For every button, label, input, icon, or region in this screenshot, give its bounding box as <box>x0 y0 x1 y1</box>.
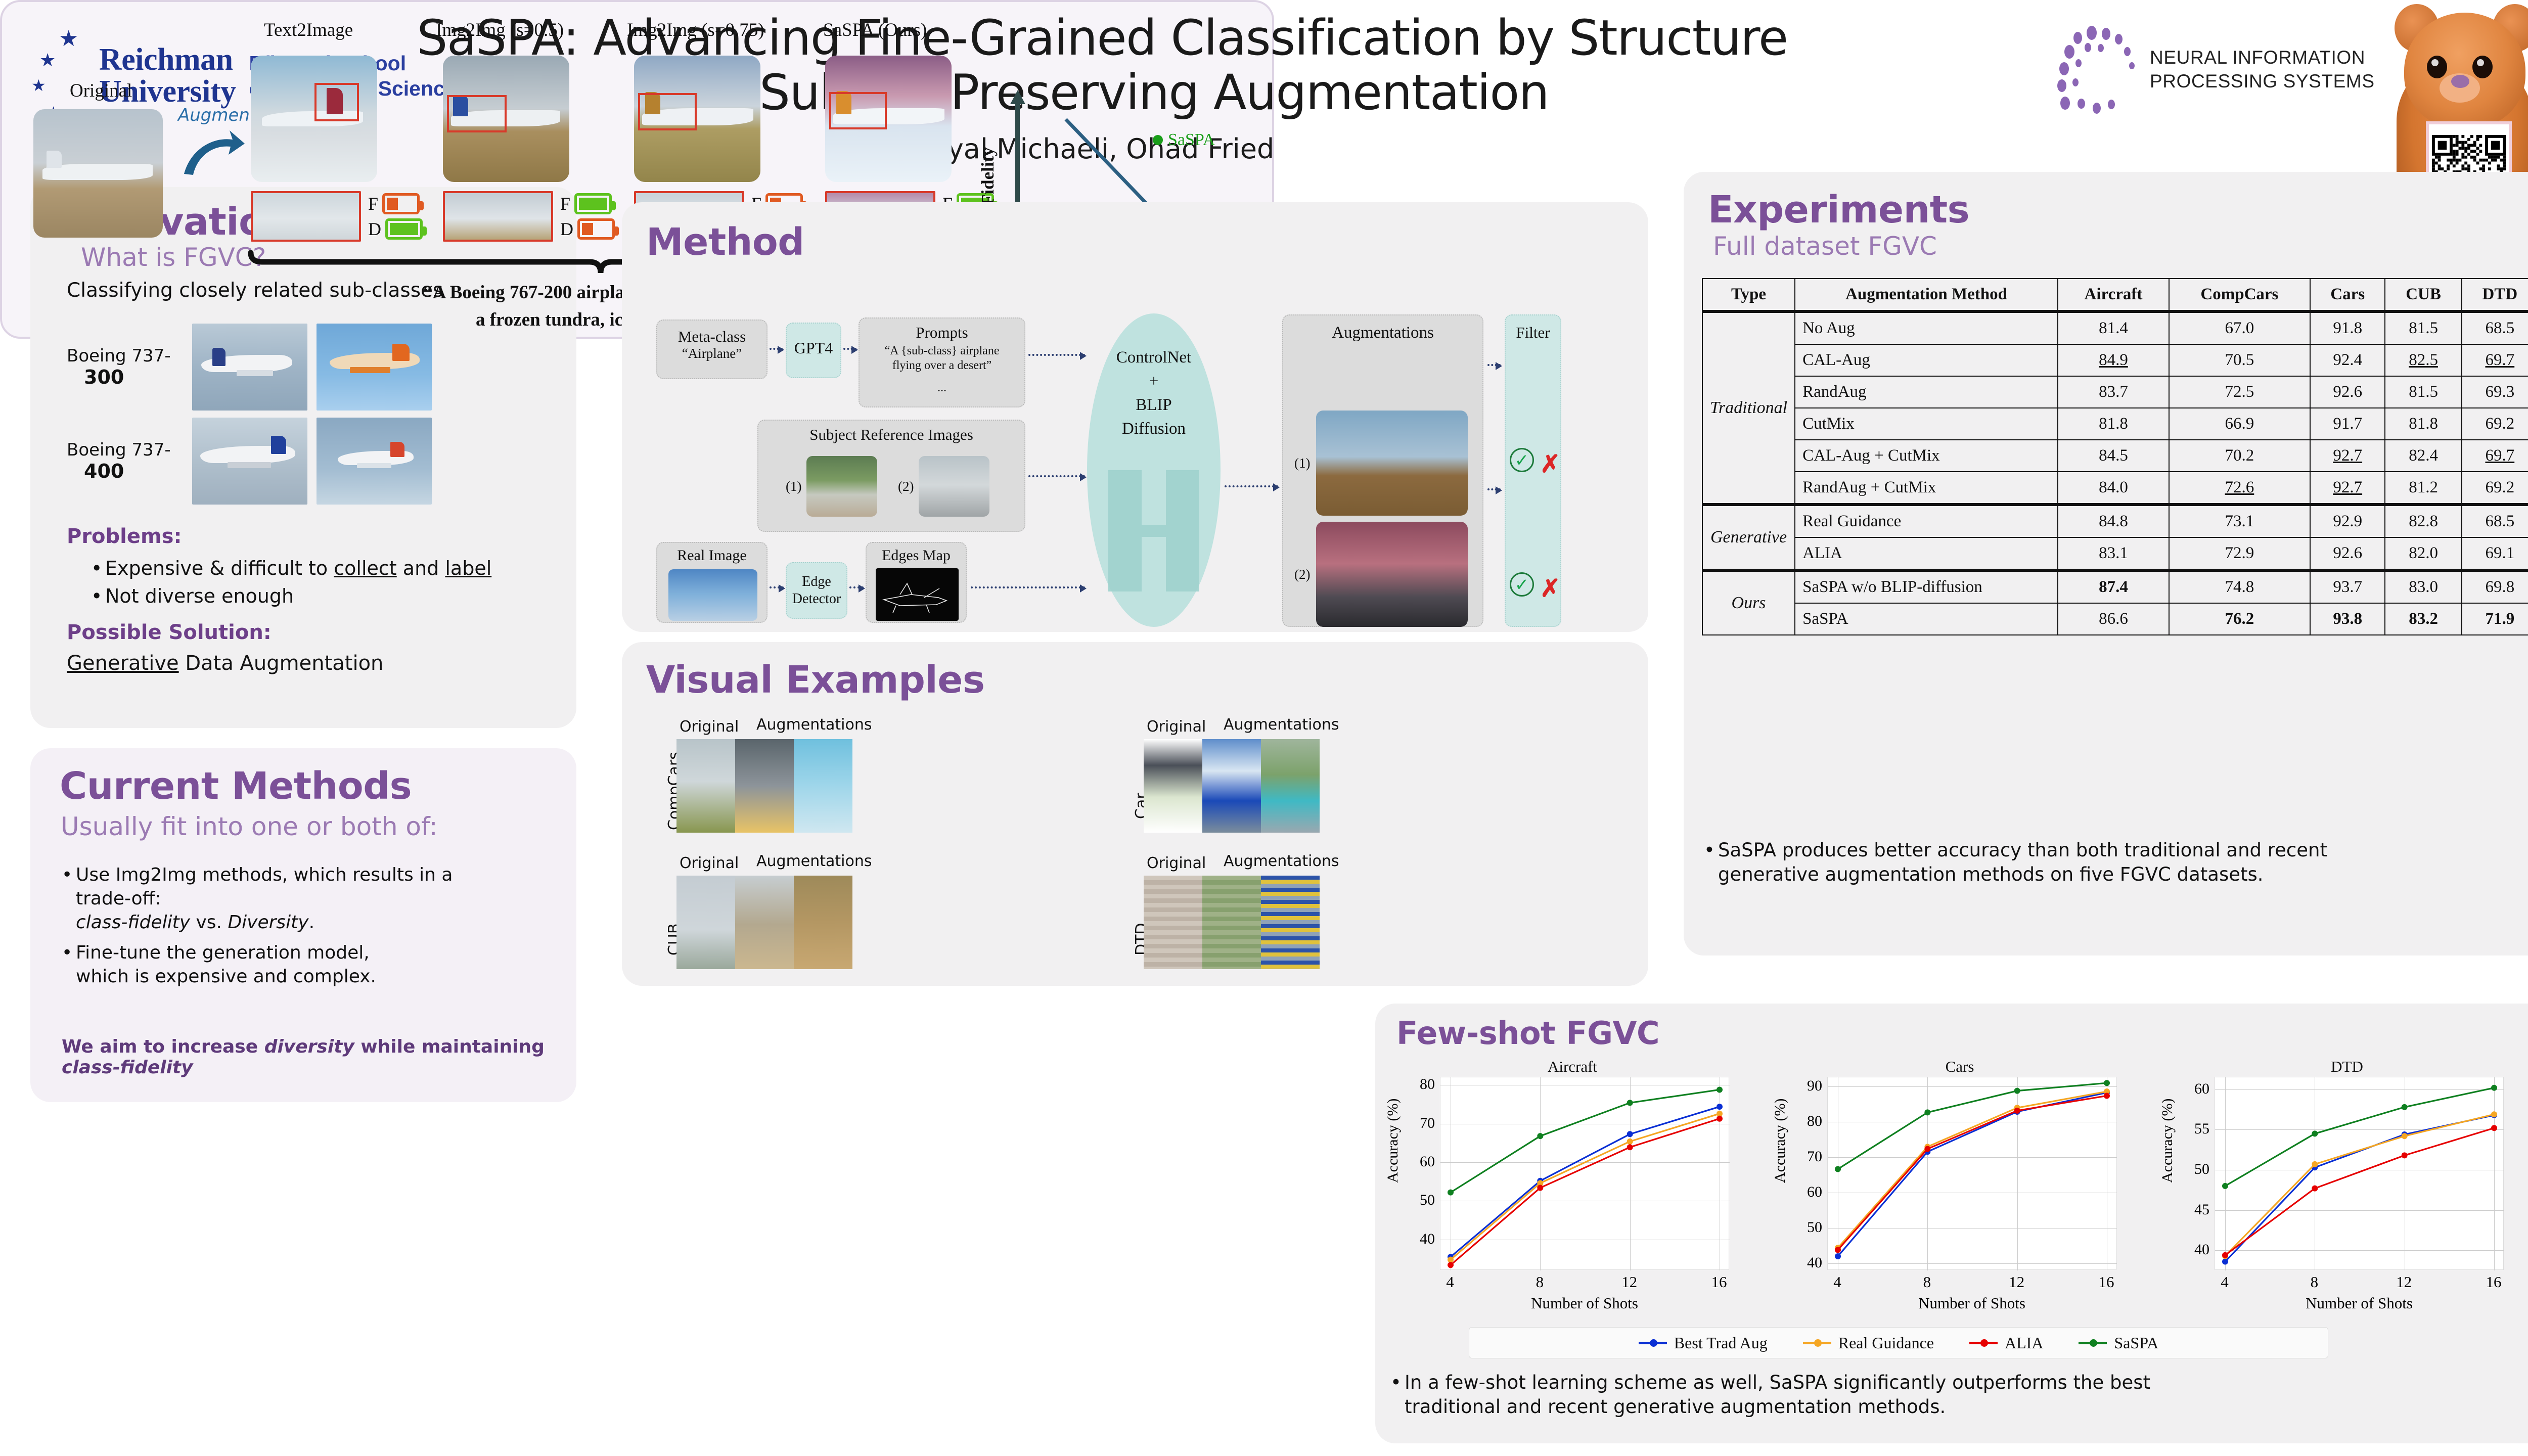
chart-marker <box>2402 1104 2408 1110</box>
chart-line-saspa <box>1838 1083 2107 1169</box>
subject-reference-title: Subject Reference Images <box>758 426 1024 444</box>
saspa-legend-label: SaSPA <box>1168 130 1215 150</box>
table-cell-value: 66.9 <box>2169 408 2310 440</box>
y-axis-label: Fidelity <box>978 147 998 205</box>
table-cell-value: 68.5 <box>2462 505 2528 537</box>
table-cell-value: 71.9 <box>2462 603 2528 635</box>
aircraft-photo <box>317 418 432 505</box>
augmentations-title: Augmentations <box>1283 324 1482 342</box>
legend-label: Best Trad Aug <box>1674 1334 1768 1352</box>
table-cell-value: 69.7 <box>2462 440 2528 472</box>
table-cell-method: RandAug <box>1795 376 2058 408</box>
prompt-ellipsis: ... <box>860 381 1024 395</box>
table-cell-method: CAL-Aug <box>1795 344 2058 376</box>
augmented-image-img2img075 <box>634 56 760 182</box>
table-cell-value: 92.4 <box>2310 344 2385 376</box>
chart-marker <box>2014 1088 2020 1094</box>
fewshot-bullet: • In a few-shot learning scheme as well,… <box>1390 1371 2528 1419</box>
table-cell-value: 82.8 <box>2385 505 2461 537</box>
chart-series-layer <box>1828 1077 2117 1270</box>
chart-marker <box>1835 1253 1841 1259</box>
chart-marker <box>1448 1262 1454 1268</box>
chart-line-real-guidance <box>1451 1114 1720 1260</box>
table-cell-value: 81.2 <box>2385 472 2461 505</box>
model-line3: BLIP <box>1087 393 1221 417</box>
neurips-line-1: NEURAL INFORMATION <box>2150 46 2375 70</box>
experiments-panel: Experiments Full dataset FGVC TypeAugmen… <box>1684 172 2528 955</box>
chart-marker <box>1835 1166 1841 1172</box>
line-chart-dtd: DTDAccuracy (%)Number of Shots4045505560… <box>2155 1057 2528 1319</box>
experiments-bullet: • SaSPA produces better accuracy than bo… <box>1704 838 2528 887</box>
filter-box: Filter ✓ ✗ ✓ ✗ <box>1505 314 1561 627</box>
chart-marker <box>1448 1257 1454 1263</box>
fgvc-row: Boeing 737- 300 <box>67 324 532 411</box>
chart-y-tick: 70 <box>1380 1115 1435 1132</box>
chart-y-tick: 55 <box>2155 1120 2209 1137</box>
augmentations-box: Augmentations (1) (2) <box>1282 314 1483 627</box>
problems-heading: Problems: <box>67 525 491 548</box>
chart-y-tick: 40 <box>1380 1231 1435 1248</box>
poster-header: ★ ★ ★ ★ ★ ★ ReichmanUniversity Efi Arazi… <box>0 0 2528 172</box>
problem-text: Expensive & difficult to collect and lab… <box>105 556 491 581</box>
chart-x-axis-label: Number of Shots <box>1440 1294 1729 1312</box>
chart-x-tick: 12 <box>1621 1273 1637 1291</box>
chart-marker <box>1537 1133 1543 1139</box>
solution-text: Generative Data Augmentation <box>67 650 383 677</box>
legend-line-icon <box>1969 1342 1998 1344</box>
table-col-header: CompCars <box>2169 279 2310 311</box>
chart-y-tick: 80 <box>1380 1076 1435 1093</box>
diversity-key: D <box>560 218 573 240</box>
table-cell-method: SaSPA <box>1795 603 2058 635</box>
table-cell-value: 92.7 <box>2310 440 2385 472</box>
chart-y-tick: 50 <box>2155 1161 2209 1178</box>
solution-block: Possible Solution: Generative Data Augme… <box>67 621 383 677</box>
table-col-header: DTD <box>2462 279 2528 311</box>
model-line4: Diffusion <box>1087 417 1221 441</box>
label-original: Original <box>680 854 739 872</box>
edge-detector-box: Edge Detector <box>786 562 847 619</box>
diversity-key: D <box>368 218 381 240</box>
current-method-item: • Fine-tune the generation model, which … <box>62 941 552 989</box>
neurips-label: NEURAL INFORMATION PROCESSING SYSTEMS <box>2150 46 2375 93</box>
rating-text2image: F D <box>368 193 423 240</box>
table-cell-value: 68.5 <box>2462 311 2528 344</box>
chart-marker <box>2402 1152 2408 1158</box>
bullet-dot-icon: • <box>1704 838 1711 887</box>
chart-title: Cars <box>1768 1058 2152 1076</box>
table-cell-value: 81.8 <box>2385 408 2461 440</box>
chart-x-tick: 16 <box>2486 1273 2502 1291</box>
subject-ref-index-2: (2) <box>898 479 914 494</box>
neurips-swirl-icon <box>2055 23 2139 116</box>
table-col-header: Aircraft <box>2058 279 2169 311</box>
label-original: Original <box>1147 854 1206 872</box>
edges-map-title: Edges Map <box>867 547 966 564</box>
visual-examples-heading: Visual Examples <box>646 661 985 699</box>
table-cell-value: 87.4 <box>2058 570 2169 603</box>
table-cell-value: 93.8 <box>2310 603 2385 635</box>
fidelity-key: F <box>368 193 378 214</box>
chart-y-tick: 45 <box>2155 1201 2209 1218</box>
meta-class-title: Meta-class <box>657 328 766 346</box>
gpt4-box: GPT4 <box>786 323 841 378</box>
chart-y-tick: 60 <box>2155 1080 2209 1098</box>
filter-title: Filter <box>1506 324 1560 342</box>
chart-marker <box>1717 1086 1723 1093</box>
fs-bullet-line2: traditional and recent generative augmen… <box>1405 1396 1946 1418</box>
current-methods-subheading: Usually fit into one or both of: <box>61 813 438 841</box>
table-cell-value: 72.6 <box>2169 472 2310 505</box>
chart-x-tick: 12 <box>2009 1273 2024 1291</box>
tradeoff-col-original: Original <box>70 80 132 102</box>
fewshot-charts: AircraftAccuracy (%)Number of Shots40506… <box>1380 1057 2528 1319</box>
edge-detector-line2: Detector <box>787 590 846 608</box>
subject-reference-box: Subject Reference Images (1) (2) <box>757 420 1025 532</box>
method-heading: Method <box>646 223 804 261</box>
tradeoff-col-saspa: SaSPA (Ours) <box>823 19 927 41</box>
table-cell-value: 92.6 <box>2310 537 2385 570</box>
bullet-dot-icon: • <box>62 941 69 989</box>
table-cell-method: ALIA <box>1795 537 2058 570</box>
table-cell-value: 69.1 <box>2462 537 2528 570</box>
aug-index-2: (2) <box>1294 567 1310 582</box>
table-cell-value: 83.1 <box>2058 537 2169 570</box>
chart-marker <box>2491 1111 2497 1117</box>
chart-y-tick: 90 <box>1768 1077 1822 1095</box>
augment-label: Augment <box>178 105 256 125</box>
results-table: TypeAugmentation MethodAircraftCompCarsC… <box>1702 278 2528 635</box>
meta-class-box: Meta-class “Airplane” <box>656 320 768 379</box>
chart-plot-area <box>1827 1077 2116 1270</box>
chart-marker <box>1717 1116 1723 1122</box>
bullet-dot-icon: • <box>1390 1371 1397 1419</box>
chart-marker <box>1924 1109 1930 1115</box>
x-icon: ✗ <box>1540 450 1560 478</box>
fgvc-label-top: Boeing 737- <box>67 346 171 366</box>
table-cell-type: Traditional <box>1702 311 1795 505</box>
subject-ref-index-1: (1) <box>786 479 801 494</box>
exp-bullet-line2: generative augmentation methods on five … <box>1718 863 2264 885</box>
table-row: CAL-Aug + CutMix84.570.292.782.469.7 <box>1702 440 2528 472</box>
subject-ref-image-1 <box>806 456 877 517</box>
tradeoff-col-text2image: Text2Image <box>264 19 353 41</box>
chart-x-tick: 8 <box>2311 1273 2319 1291</box>
table-cell-value: 91.8 <box>2310 311 2385 344</box>
chart-line-best-trad-aug <box>2225 1115 2494 1262</box>
fgvc-row-label: Boeing 737- 400 <box>67 440 183 483</box>
chart-line-alia <box>1451 1119 1720 1265</box>
chart-line-alia <box>2225 1128 2494 1255</box>
table-cell-value: 82.4 <box>2385 440 2461 472</box>
chart-x-tick: 16 <box>1711 1273 1727 1291</box>
legend-item-alia: ALIA <box>1969 1334 2043 1352</box>
chart-marker <box>2222 1183 2228 1189</box>
chart-marker <box>2312 1130 2318 1136</box>
chart-y-tick: 40 <box>2155 1241 2209 1258</box>
current-method-item: • Use Img2Img methods, which results in … <box>62 863 552 934</box>
experiments-heading: Experiments <box>1708 191 1969 229</box>
chart-marker <box>1448 1190 1454 1196</box>
research-aim-statement: We aim to increase diversity while maint… <box>62 1036 576 1078</box>
table-cell-value: 83.0 <box>2385 570 2461 603</box>
method-panel: Method Meta-class “Airplane” GPT4 Prompt… <box>622 202 1648 632</box>
aircraft-photo <box>192 418 307 505</box>
table-row: CAL-Aug84.970.592.482.569.7 <box>1702 344 2528 376</box>
table-cell-value: 70.2 <box>2169 440 2310 472</box>
bullet-dot-icon: • <box>91 584 98 609</box>
current-methods-list: • Use Img2Img methods, which results in … <box>62 863 552 996</box>
chart-marker <box>1627 1144 1633 1150</box>
label-augmentations: Augmentations <box>756 852 872 870</box>
label-original: Original <box>680 718 739 736</box>
experiments-bullet-item: • SaSPA produces better accuracy than bo… <box>1704 838 2528 887</box>
title-line-1: SaSPA: Advancing Fine-Grained Classifica… <box>417 10 1787 66</box>
chart-y-tick: 50 <box>1380 1192 1435 1209</box>
label-augmentations: Augmentations <box>1224 852 1339 870</box>
table-cell-value: 91.7 <box>2310 408 2385 440</box>
fgvc-label-top: Boeing 737- <box>67 440 171 460</box>
table-cell-value: 86.6 <box>2058 603 2169 635</box>
legend-line-icon <box>1803 1342 1831 1344</box>
chart-x-axis-label: Number of Shots <box>2215 1294 2504 1312</box>
table-cell-value: 69.3 <box>2462 376 2528 408</box>
chart-y-tick: 40 <box>1768 1254 1822 1271</box>
table-cell-value: 69.7 <box>2462 344 2528 376</box>
chart-marker <box>1627 1100 1633 1106</box>
current-methods-panel: Current Methods Usually fit into one or … <box>30 748 576 1102</box>
neurips-logo: NEURAL INFORMATION PROCESSING SYSTEMS <box>2055 23 2375 116</box>
fgvc-examples: Boeing 737- 300 Boeing 737- 400 <box>67 324 532 512</box>
table-cell-method: SaSPA w/o BLIP-diffusion <box>1795 570 2058 603</box>
meta-class-value: “Airplane” <box>657 346 766 361</box>
saspa-legend-entry: SaSPA <box>1153 130 1215 150</box>
chart-marker <box>1717 1104 1723 1110</box>
unet-hourglass-icon <box>1103 465 1204 597</box>
chart-line-alia <box>1838 1096 2107 1250</box>
prompts-title: Prompts <box>860 324 1024 342</box>
legend-line-icon <box>2079 1342 2107 1344</box>
experiments-subheading: Full dataset FGVC <box>1713 233 1937 260</box>
example-image <box>735 876 794 969</box>
rating-img2img05: F D <box>560 193 615 240</box>
chart-line-best-trad-aug <box>1451 1107 1720 1257</box>
table-row: RandAug83.772.592.681.569.3 <box>1702 376 2528 408</box>
chart-marker <box>1627 1139 1633 1145</box>
tradeoff-col-img2img075: Img2Img (s=0.75) <box>627 19 764 41</box>
check-icon: ✓ <box>1510 572 1534 597</box>
current-method-text: Use Img2Img methods, which results in a … <box>76 863 453 934</box>
chart-marker <box>2312 1186 2318 1192</box>
chart-series-layer <box>1440 1077 1730 1270</box>
fewshot-legend: Best Trad AugReal GuidanceALIASaSPA <box>1469 1327 2328 1358</box>
problems-block: Problems: • Expensive & difficult to col… <box>67 525 491 609</box>
poster-root: ★ ★ ★ ★ ★ ★ ReichmanUniversity Efi Arazi… <box>0 0 2528 1456</box>
crop-text2image <box>251 191 361 242</box>
table-cell-method: CAL-Aug + CutMix <box>1795 440 2058 472</box>
fgvc-label-variant: 400 <box>84 460 183 483</box>
table-row: SaSPA86.676.293.883.271.9 <box>1702 603 2528 635</box>
augmented-image-text2image <box>251 56 377 182</box>
table-cell-value: 83.2 <box>2385 603 2461 635</box>
aircraft-photo <box>192 324 307 411</box>
diversity-battery-icon <box>577 218 615 240</box>
saspa-dot-icon <box>1153 135 1163 145</box>
model-line1: ControlNet <box>1087 346 1221 370</box>
fewshot-heading: Few-shot FGVC <box>1396 1018 1659 1049</box>
example-image <box>1261 876 1320 969</box>
fidelity-key: F <box>560 193 570 214</box>
fewshot-bullet-text: In a few-shot learning scheme as well, S… <box>1405 1371 2150 1419</box>
line-chart-cars: CarsAccuracy (%)Number of Shots405060708… <box>1768 1057 2152 1319</box>
check-icon: ✓ <box>1510 448 1534 472</box>
table-cell-value: 67.0 <box>2169 311 2310 344</box>
chart-marker <box>2014 1108 2020 1114</box>
visual-examples-panel: Visual Examples Original Augmentations C… <box>622 642 1648 986</box>
current-methods-heading: Current Methods <box>60 767 412 805</box>
gpt4-label: GPT4 <box>787 339 840 357</box>
solution-underlined: Generative <box>67 652 179 675</box>
motivation-subheading: What is FGVC? <box>81 244 266 271</box>
chart-line-saspa <box>1451 1089 1720 1192</box>
prompt-line-2: flying over a desert” <box>860 358 1024 373</box>
prompts-body: “A {sub-class} airplane flying over a de… <box>860 344 1024 395</box>
fgvc-row-label: Boeing 737- 300 <box>67 346 183 389</box>
table-cell-value: 84.0 <box>2058 472 2169 505</box>
example-image <box>1261 739 1320 833</box>
chart-marker <box>1627 1131 1633 1137</box>
table-cell-type: Ours <box>1702 570 1795 635</box>
table-cell-value: 69.2 <box>2462 472 2528 505</box>
example-image <box>676 876 735 969</box>
table-col-header: Augmentation Method <box>1795 279 2058 311</box>
fidelity-battery-icon <box>382 193 420 214</box>
chart-marker <box>2222 1258 2228 1264</box>
solution-rest: Data Augmentation <box>179 652 384 675</box>
controlnet-blip-label: ControlNet + BLIP Diffusion <box>1087 346 1221 440</box>
augmentation-image-1 <box>1316 411 1468 516</box>
example-image <box>735 739 794 833</box>
chart-x-tick: 4 <box>2221 1273 2229 1291</box>
table-col-header: Type <box>1702 279 1795 311</box>
chart-marker <box>2104 1080 2110 1086</box>
chart-marker <box>1835 1247 1841 1253</box>
diversity-battery-icon <box>385 218 423 240</box>
table-cell-value: 81.4 <box>2058 311 2169 344</box>
legend-label: ALIA <box>2005 1334 2043 1352</box>
chart-plot-area <box>1440 1077 1729 1270</box>
crop-img2img05 <box>443 191 553 242</box>
chart-line-real-guidance <box>1838 1091 2107 1248</box>
original-image <box>33 109 163 238</box>
real-image-title: Real Image <box>657 547 766 564</box>
chart-y-tick: 70 <box>1768 1148 1822 1165</box>
augmentation-image-2 <box>1316 522 1468 627</box>
exp-bullet-line1: SaSPA produces better accuracy than both… <box>1718 839 2327 861</box>
chart-x-axis-label: Number of Shots <box>1827 1294 2116 1312</box>
chart-marker <box>1537 1185 1543 1191</box>
table-cell-value: 81.8 <box>2058 408 2169 440</box>
chart-x-tick: 4 <box>1833 1273 1841 1291</box>
fgvc-label-variant: 300 <box>84 366 183 389</box>
chart-marker <box>2491 1125 2497 1131</box>
table-cell-type: Generative <box>1702 505 1795 570</box>
chart-y-tick: 60 <box>1768 1184 1822 1201</box>
line-chart-aircraft: AircraftAccuracy (%)Number of Shots40506… <box>1380 1057 1765 1319</box>
table-col-header: CUB <box>2385 279 2461 311</box>
example-image <box>1144 876 1202 969</box>
edge-detector-line1: Edge <box>787 573 846 590</box>
subject-ref-image-2 <box>919 456 989 517</box>
chart-y-tick: 80 <box>1768 1113 1822 1130</box>
table-cell-value: 92.9 <box>2310 505 2385 537</box>
edge-detector-label: Edge Detector <box>787 573 846 607</box>
table-cell-value: 92.6 <box>2310 376 2385 408</box>
table-cell-value: 84.5 <box>2058 440 2169 472</box>
chart-marker <box>2402 1133 2408 1139</box>
table-cell-value: 69.8 <box>2462 570 2528 603</box>
chart-title: DTD <box>2155 1058 2528 1076</box>
table-cell-value: 81.5 <box>2385 311 2461 344</box>
chart-y-tick: 60 <box>1380 1153 1435 1170</box>
aug-index-1: (1) <box>1294 456 1310 471</box>
table-cell-value: 82.5 <box>2385 344 2461 376</box>
table-cell-value: 74.8 <box>2169 570 2310 603</box>
label-augmentations: Augmentations <box>1224 716 1339 734</box>
table-row: ALIA83.172.992.682.069.1 <box>1702 537 2528 570</box>
neurips-line-2: PROCESSING SYSTEMS <box>2150 70 2375 94</box>
table-row: OursSaSPA w/o BLIP-diffusion87.474.893.7… <box>1702 570 2528 603</box>
label-augmentations: Augmentations <box>756 716 872 734</box>
fewshot-bullet-item: • In a few-shot learning scheme as well,… <box>1390 1371 2528 1419</box>
model-line2: + <box>1087 370 1221 393</box>
legend-item-real-guidance: Real Guidance <box>1803 1334 1934 1352</box>
tradeoff-col-img2img05: Img2Img (s=0.5) <box>436 19 564 41</box>
chart-marker <box>2104 1093 2110 1099</box>
example-image <box>794 876 852 969</box>
chart-line-best-trad-aug <box>1838 1093 2107 1256</box>
table-cell-value: 84.9 <box>2058 344 2169 376</box>
chart-x-tick: 4 <box>1446 1273 1454 1291</box>
augment-arrow-icon <box>180 125 246 181</box>
bullet-dot-icon: • <box>91 556 98 581</box>
legend-item-saspa: SaSPA <box>2079 1334 2158 1352</box>
chart-y-tick: 50 <box>1768 1219 1822 1236</box>
label-original: Original <box>1147 718 1206 736</box>
edges-map-thumb <box>876 568 959 621</box>
table-row: GenerativeReal Guidance84.873.192.982.86… <box>1702 505 2528 537</box>
chart-marker <box>1924 1146 1930 1152</box>
table-header-row: TypeAugmentation MethodAircraftCompCarsC… <box>1702 279 2528 311</box>
table-cell-value: 81.5 <box>2385 376 2461 408</box>
fgvc-row: Boeing 737- 400 <box>67 418 532 505</box>
controlnet-blip-node: ControlNet + BLIP Diffusion <box>1087 313 1221 627</box>
table-cell-value: 93.7 <box>2310 570 2385 603</box>
augmented-image-saspa <box>825 56 952 182</box>
prompts-box: Prompts “A {sub-class} airplane flying o… <box>859 317 1025 407</box>
example-image <box>1144 739 1202 833</box>
legend-line-icon <box>1639 1342 1667 1344</box>
chart-x-tick: 8 <box>1536 1273 1544 1291</box>
table-cell-value: 69.2 <box>2462 408 2528 440</box>
example-image <box>1202 876 1261 969</box>
chart-line-real-guidance <box>2225 1114 2494 1256</box>
chart-marker <box>2222 1252 2228 1258</box>
chart-series-layer <box>2215 1077 2504 1270</box>
chart-title: Aircraft <box>1380 1058 1765 1076</box>
table-cell-value: 92.7 <box>2310 472 2385 505</box>
prompt-line-1: “A {sub-class} airplane <box>860 344 1024 358</box>
